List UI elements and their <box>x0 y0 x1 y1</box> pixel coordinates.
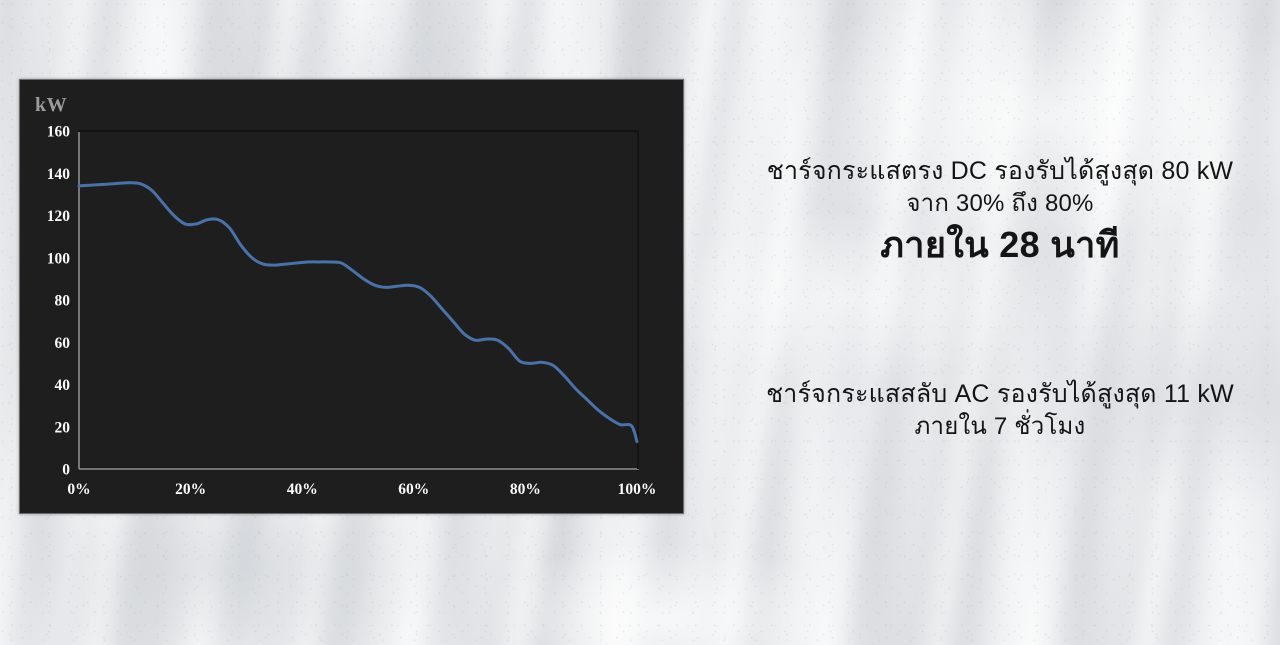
y-axis-tick-label: 120 <box>47 208 71 225</box>
x-axis-tick-label: 0% <box>67 481 90 498</box>
x-axis-tick-label: 20% <box>175 481 206 498</box>
dc-line-2: จาก 30% ถึง 80% <box>720 188 1280 220</box>
ac-charging-text-block: ชาร์จกระแสสลับ AC รองรับได้สูงสุด 11 kW … <box>720 378 1280 443</box>
x-axis-tick-labels: 0%20%40%60%80%100% <box>67 481 656 498</box>
chart-plot-svg: 020406080100120140160 0%20%40%60%80%100% <box>20 80 685 515</box>
y-axis-tick-label: 140 <box>47 166 71 183</box>
x-axis-tick-label: 100% <box>618 481 657 498</box>
y-axis-tick-label: 160 <box>47 124 71 141</box>
ac-line-1: ชาร์จกระแสสลับ AC รองรับได้สูงสุด 11 kW <box>720 378 1280 411</box>
dc-charging-text-block: ชาร์จกระแสตรง DC รองรับได้สูงสุด 80 kW จ… <box>720 155 1280 269</box>
slide-root: kW 020406080100120140160 0%20%40%60%80%1… <box>0 0 1280 645</box>
y-axis-tick-label: 40 <box>55 377 71 394</box>
y-axis-tick-label: 60 <box>55 335 71 352</box>
y-axis-tick-labels: 020406080100120140160 <box>47 124 71 479</box>
charging-curve-chart: kW 020406080100120140160 0%20%40%60%80%1… <box>19 79 684 514</box>
dc-power-curve <box>79 183 637 442</box>
dc-line-3: ภายใน 28 นาที <box>720 222 1280 269</box>
dc-line-1: ชาร์จกระแสตรง DC รองรับได้สูงสุด 80 kW <box>720 155 1280 188</box>
ac-line-2: ภายใน 7 ชั่วโมง <box>720 411 1280 443</box>
y-axis-tick-label: 0 <box>62 462 70 479</box>
y-axis-tick-label: 100 <box>47 250 71 267</box>
y-axis-tick-label: 20 <box>55 419 71 436</box>
y-axis-tick-label: 80 <box>55 293 71 310</box>
x-axis-tick-label: 60% <box>398 481 429 498</box>
x-axis-tick-label: 80% <box>510 481 541 498</box>
x-axis-tick-label: 40% <box>287 481 318 498</box>
